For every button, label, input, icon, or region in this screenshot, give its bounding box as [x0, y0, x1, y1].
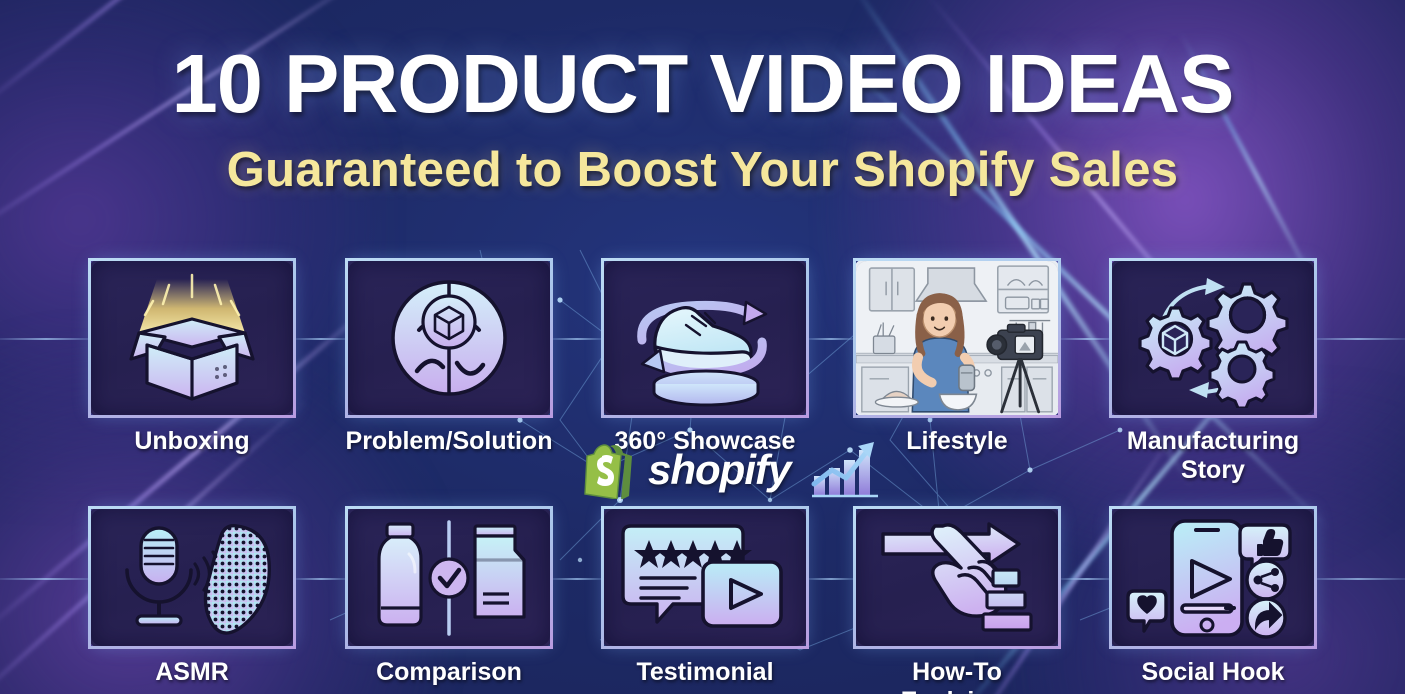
card-problem-solution[interactable]: Problem/Solution: [345, 258, 553, 456]
card-lifestyle[interactable]: Lifestyle: [853, 258, 1061, 456]
microphone-sound-waves-icon: [107, 518, 277, 638]
page-title: 10 PRODUCT VIDEO IDEAS: [0, 42, 1405, 125]
kitchen-creator-camera-icon: [856, 258, 1058, 418]
card-asmr[interactable]: ASMR: [88, 506, 296, 687]
manufacturing-card-frame: [1109, 258, 1317, 418]
page-subtitle: Guaranteed to Boost Your Shopify Sales: [0, 146, 1405, 195]
five-star-review-video-icon: [621, 518, 789, 638]
card-social-hook[interactable]: Social Hook: [1109, 506, 1317, 687]
card-label: ASMR: [88, 658, 296, 687]
card-label: Manufacturing Story: [1109, 427, 1317, 485]
growth-chart-icon: [808, 440, 882, 500]
asmr-card-frame: [88, 506, 296, 649]
card-label: Comparison: [345, 658, 553, 687]
header: 10 PRODUCT VIDEO IDEAS Guaranteed to Boo…: [0, 42, 1405, 195]
testimonial-card-frame: [601, 506, 809, 649]
comparison-card-frame: [345, 506, 553, 649]
card-label: Social Hook: [1109, 658, 1317, 687]
two-products-checkmark-icon: [367, 518, 532, 638]
sad-happy-face-split-icon: [379, 268, 519, 408]
how-to-card-frame: [853, 506, 1061, 649]
showcase-card-frame: [601, 258, 809, 418]
gears-product-cycle-icon: [1133, 268, 1293, 408]
lifestyle-card-frame: [853, 258, 1061, 418]
shopify-brand-badge: shopify: [584, 440, 882, 500]
card-testimonial[interactable]: Testimonial: [601, 506, 809, 687]
hand-tap-steps-arrow-icon: [875, 518, 1040, 638]
card-360-showcase[interactable]: 360° Showcase: [601, 258, 809, 456]
rotating-shoe-turntable-icon: [620, 268, 790, 408]
card-how-to-explainer[interactable]: How-To Explainer: [853, 506, 1061, 694]
card-label: Problem/Solution: [345, 427, 553, 456]
phone-play-social-icons-icon: [1126, 517, 1301, 639]
open-box-with-light-icon: [117, 271, 267, 406]
card-label: Testimonial: [601, 658, 809, 687]
card-manufacturing-story[interactable]: Manufacturing Story: [1109, 258, 1317, 485]
card-label: Lifestyle: [853, 427, 1061, 456]
card-comparison[interactable]: Comparison: [345, 506, 553, 687]
shopify-bag-icon: [584, 441, 636, 499]
card-label: How-To Explainer: [853, 658, 1061, 694]
social-hook-card-frame: [1109, 506, 1317, 649]
shopify-wordmark: shopify: [648, 446, 790, 494]
card-unboxing[interactable]: Unboxing: [88, 258, 296, 456]
unboxing-card-frame: [88, 258, 296, 418]
card-label: Unboxing: [88, 427, 296, 456]
problem-solution-card-frame: [345, 258, 553, 418]
